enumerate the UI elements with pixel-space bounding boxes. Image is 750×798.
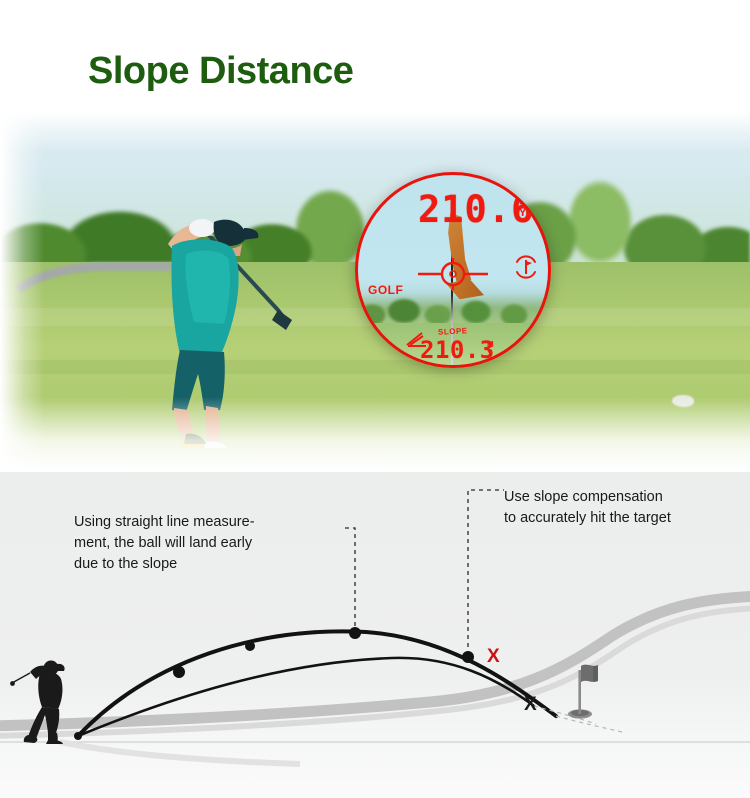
marker-short-x: X bbox=[524, 694, 537, 716]
slope-unit-m: M bbox=[487, 340, 494, 349]
main-unit-readout: M Y bbox=[519, 195, 528, 219]
caption-slope-compensation: Use slope compensation to accurately hit… bbox=[504, 487, 744, 529]
rangefinder-display: 210.6 M Y GOLF SLOPE 210.3 bbox=[355, 172, 551, 368]
flag-lock-icon bbox=[514, 255, 538, 279]
slope-unit-y: Y bbox=[487, 349, 494, 358]
page-title: Slope Distance bbox=[88, 50, 353, 93]
slope-distance-readout: 210.3 bbox=[420, 338, 495, 362]
photo-bottom-fade bbox=[0, 397, 750, 472]
caption-straight-line: Using straight line measure- ment, the b… bbox=[74, 512, 336, 575]
golfer-silhouette-icon bbox=[10, 655, 80, 745]
slope-distance-infographic: Slope Distance bbox=[0, 0, 750, 798]
reticle-icon bbox=[418, 257, 488, 291]
slope-unit-readout: M Y bbox=[487, 340, 494, 358]
pin-flag-icon bbox=[564, 658, 604, 720]
main-unit-y: Y bbox=[519, 207, 528, 219]
marker-miss-x: X bbox=[487, 646, 500, 668]
main-distance-readout: 210.6 bbox=[418, 191, 534, 228]
main-unit-m: M bbox=[519, 195, 528, 207]
mode-label-golf: GOLF bbox=[368, 283, 403, 297]
photo-top-fade bbox=[0, 112, 750, 152]
scope-treeline bbox=[358, 293, 548, 327]
